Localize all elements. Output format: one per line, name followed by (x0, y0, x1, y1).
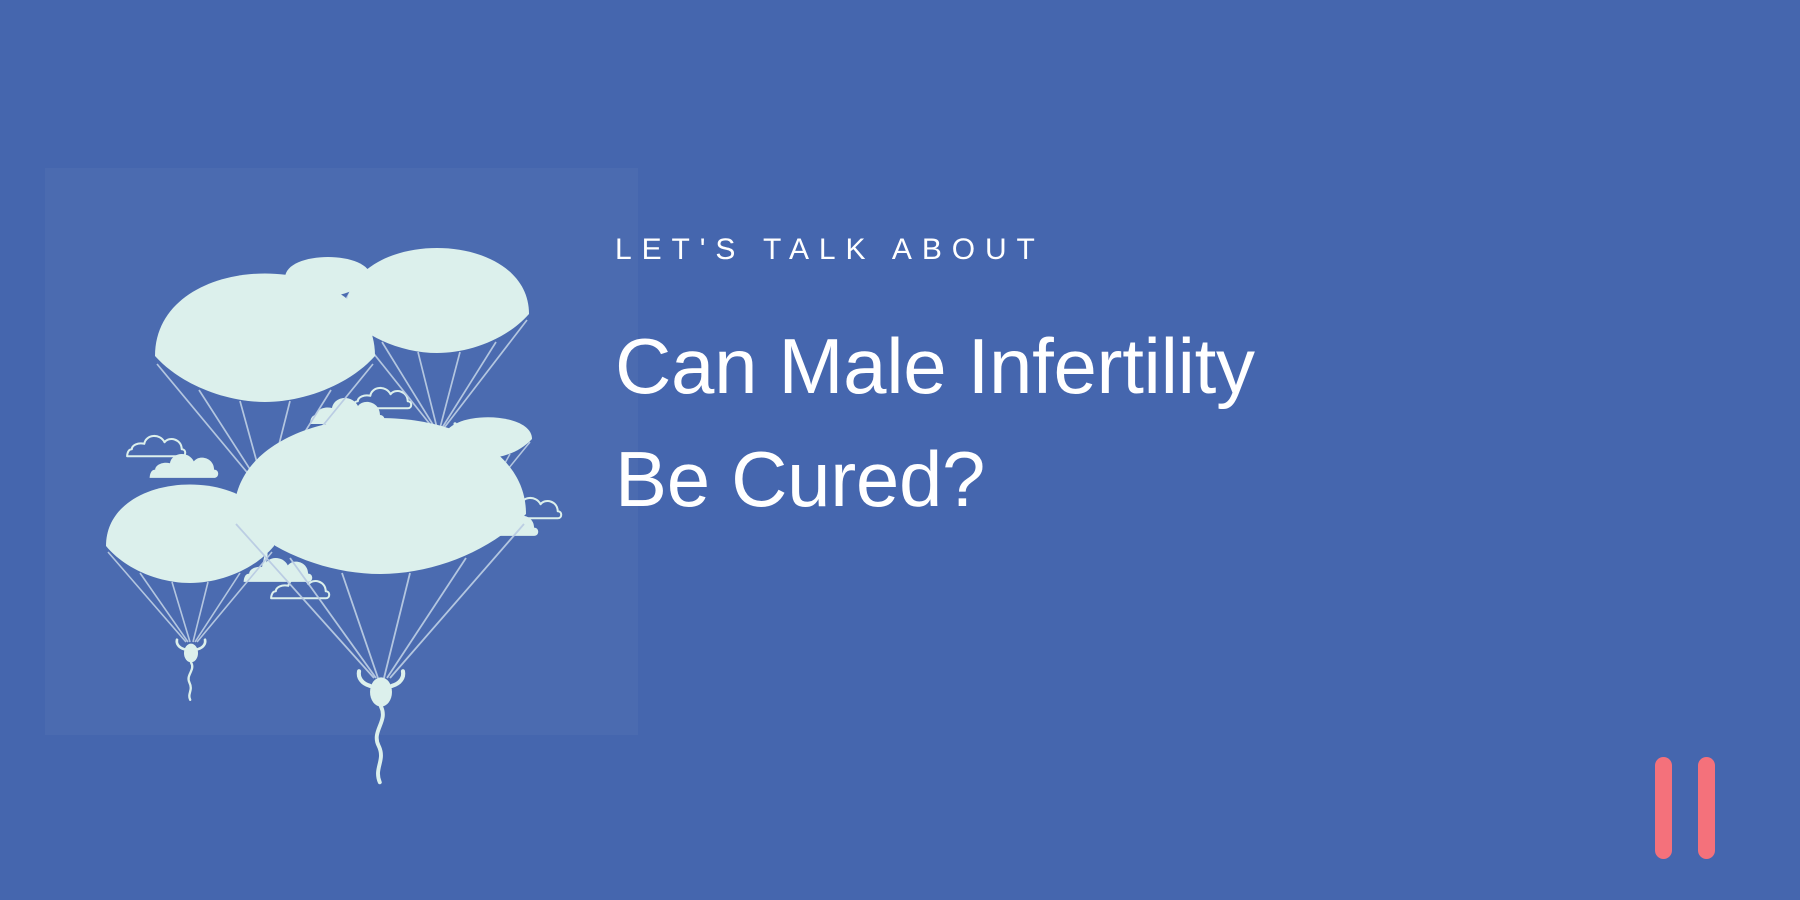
text-block: LET'S TALK ABOUT Can Male Infertility Be… (615, 232, 1515, 536)
parachute-large-center (234, 418, 526, 782)
cloud-pair-left (127, 436, 218, 478)
page-title: Can Male Infertility Be Cured? (615, 310, 1515, 536)
headline-line-1: Can Male Infertility (615, 310, 1515, 423)
parachuting-sperm-illustration (110, 240, 570, 660)
headline-line-2: Be Cured? (615, 423, 1515, 536)
pause-bar-right (1698, 757, 1715, 859)
blog-banner-card: LET'S TALK ABOUT Can Male Infertility Be… (0, 0, 1800, 900)
pause-bar-left (1655, 757, 1672, 859)
eyebrow-label: LET'S TALK ABOUT (615, 232, 1515, 268)
pause-bars-icon (1655, 757, 1715, 859)
cloud-pair-bottom (244, 558, 330, 598)
